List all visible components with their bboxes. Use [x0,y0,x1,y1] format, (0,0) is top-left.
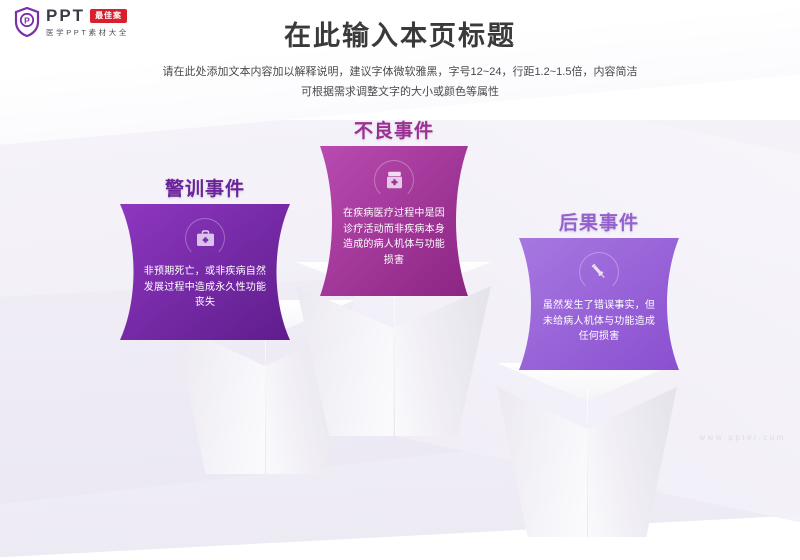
pedestal-edge [265,324,266,474]
card-adverse-event[interactable]: 不良事件 在疾病医疗过程中是因诊疗活动而非疾病本身造成的病人机体与功能损害 [320,146,468,296]
watermark: www.ppter.com [699,433,786,442]
subtitle-line-2: 可根据需求调整文字的大小或颜色等属性 [0,82,800,102]
syringe-icon [579,252,619,292]
pedestal-right [497,363,677,493]
pedestal-edge [394,286,395,436]
card-text-adverse-event: 在疾病医疗过程中是因诊疗活动而非疾病本身造成的病人机体与功能损害 [320,206,468,268]
subtitle-line-1: 请在此处添加文本内容加以解释说明，建议字体微软雅黑，字号12~24，行距1.2~… [0,62,800,82]
pedestal-face-left [296,286,394,436]
card-title-warning-event: 警训事件 [120,174,290,201]
pedestal-edge [587,387,588,537]
page-title: 在此输入本页标题 [0,14,800,53]
card-warning-event[interactable]: 警训事件 非预期死亡，或非疾病自然发展过程中造成永久性功能丧失 [120,204,290,340]
card-title-consequence-event: 后果事件 [519,208,679,235]
card-title-adverse-event: 不良事件 [320,116,468,143]
card-content-adverse-event: 在疾病医疗过程中是因诊疗活动而非疾病本身造成的病人机体与功能损害 [320,146,468,296]
pedestal-face-left [175,324,265,474]
card-content-warning-event: 非预期死亡，或非疾病自然发展过程中造成永久性功能丧失 [120,204,290,340]
card-text-consequence-event: 虽然发生了错误事实，但未给病人机体与功能造成任何损害 [519,298,679,345]
card-content-consequence-event: 虽然发生了错误事实，但未给病人机体与功能造成任何损害 [519,238,679,370]
card-consequence-event[interactable]: 后果事件 虽然发生了错误事实，但未给病人机体与功能造成任何损害 [519,238,679,370]
medical-bag-icon [185,218,225,258]
hospital-icon [374,160,414,200]
pedestal-face-right [394,286,492,436]
page-subtitle: 请在此处添加文本内容加以解释说明，建议字体微软雅黑，字号12~24，行距1.2~… [0,62,800,103]
card-text-warning-event: 非预期死亡，或非疾病自然发展过程中造成永久性功能丧失 [120,264,290,311]
